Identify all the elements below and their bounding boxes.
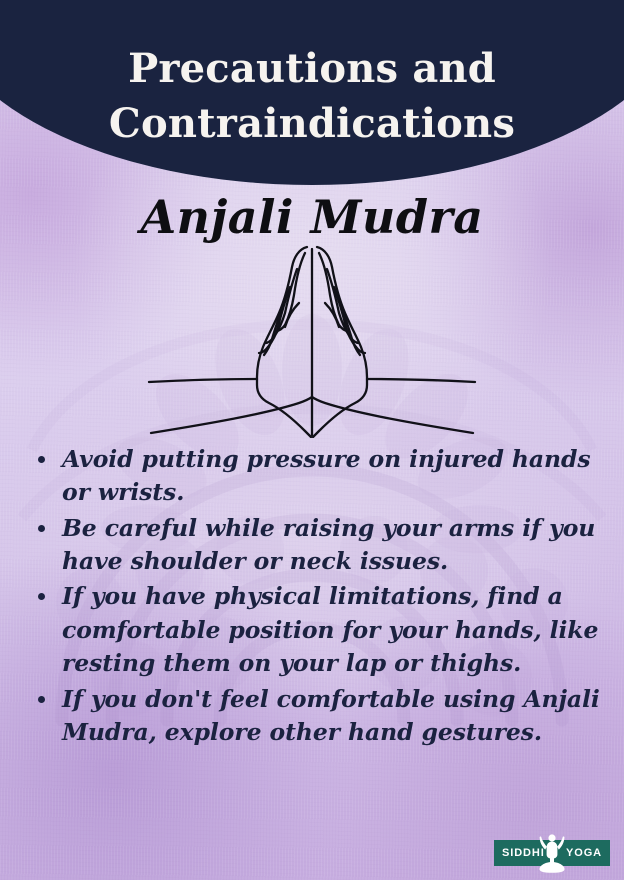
bullet-dot-icon [38, 696, 45, 703]
list-item-text: If you don't feel comfortable using Anja… [62, 685, 600, 746]
list-item: Be careful while raising your arms if yo… [34, 512, 610, 579]
page-title-line-2: Contraindications [40, 96, 584, 151]
page-title: Precautions and Contraindications [0, 41, 624, 151]
list-item: If you have physical limitations, find a… [34, 580, 610, 680]
siddhi-yoga-logo[interactable]: SIDDHI YOGA [494, 840, 610, 866]
praying-hands-icon [147, 243, 477, 438]
infographic-poster: Precautions and Contraindications Anjali… [0, 0, 624, 880]
list-item-text: Avoid putting pressure on injured hands … [62, 445, 590, 506]
page-title-line-1: Precautions and [40, 41, 584, 96]
bullet-dot-icon [38, 525, 45, 532]
logo-word-yoga: YOGA [566, 840, 602, 866]
logo-word-siddhi: SIDDHI [502, 840, 545, 866]
bullet-dot-icon [38, 456, 45, 463]
list-item-text: If you have physical limitations, find a… [62, 582, 598, 677]
bullet-dot-icon [38, 593, 45, 600]
precautions-list: Avoid putting pressure on injured hands … [34, 443, 610, 751]
subtitle: Anjali Mudra [0, 190, 624, 244]
list-item: Avoid putting pressure on injured hands … [34, 443, 610, 510]
list-item-text: Be careful while raising your arms if yo… [62, 514, 595, 575]
list-item: If you don't feel comfortable using Anja… [34, 683, 610, 750]
